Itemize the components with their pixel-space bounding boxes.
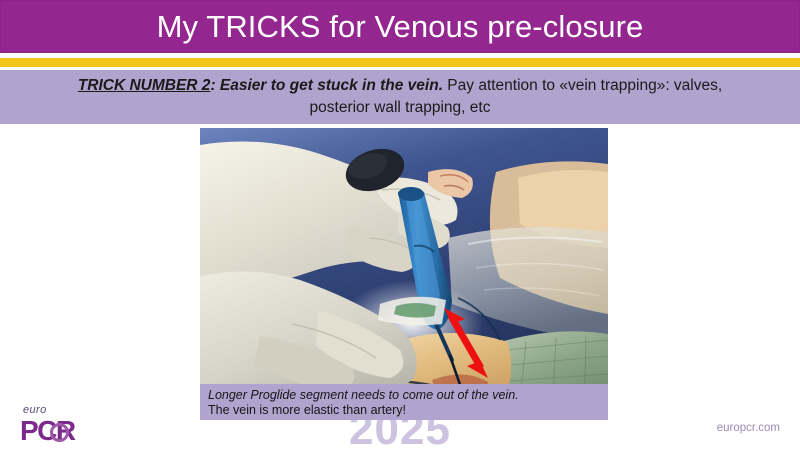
subtitle-line-1: TRICK NUMBER 2: Easier to get stuck in t… xyxy=(64,75,736,97)
slide-canvas: My TRICKS for Venous pre-closure TRICK N… xyxy=(0,0,800,450)
page-title: My TRICKS for Venous pre-closure xyxy=(0,0,800,53)
footer-url: europcr.com xyxy=(717,422,780,434)
gold-divider-rule xyxy=(0,58,800,67)
subtitle-block: TRICK NUMBER 2: Easier to get stuck in t… xyxy=(0,70,800,124)
caption-line-2: The vein is more elastic than artery! xyxy=(208,403,608,418)
trick-headline: : Easier to get stuck in the vein. xyxy=(210,77,443,94)
procedure-photo xyxy=(200,128,608,420)
logo-ring-icon xyxy=(50,423,69,442)
caption-line-1: Longer Proglide segment needs to come ou… xyxy=(208,388,608,403)
trick-detail: Pay attention to «vein trapping»: valves… xyxy=(443,77,722,94)
photo-caption: Longer Proglide segment needs to come ou… xyxy=(200,384,608,420)
europcr-logo: euro PCR xyxy=(20,404,130,446)
procedure-photo-graphic xyxy=(200,128,608,420)
trick-number-label: TRICK NUMBER 2 xyxy=(78,77,211,94)
subtitle-line-2: posterior wall trapping, etc xyxy=(296,97,505,119)
